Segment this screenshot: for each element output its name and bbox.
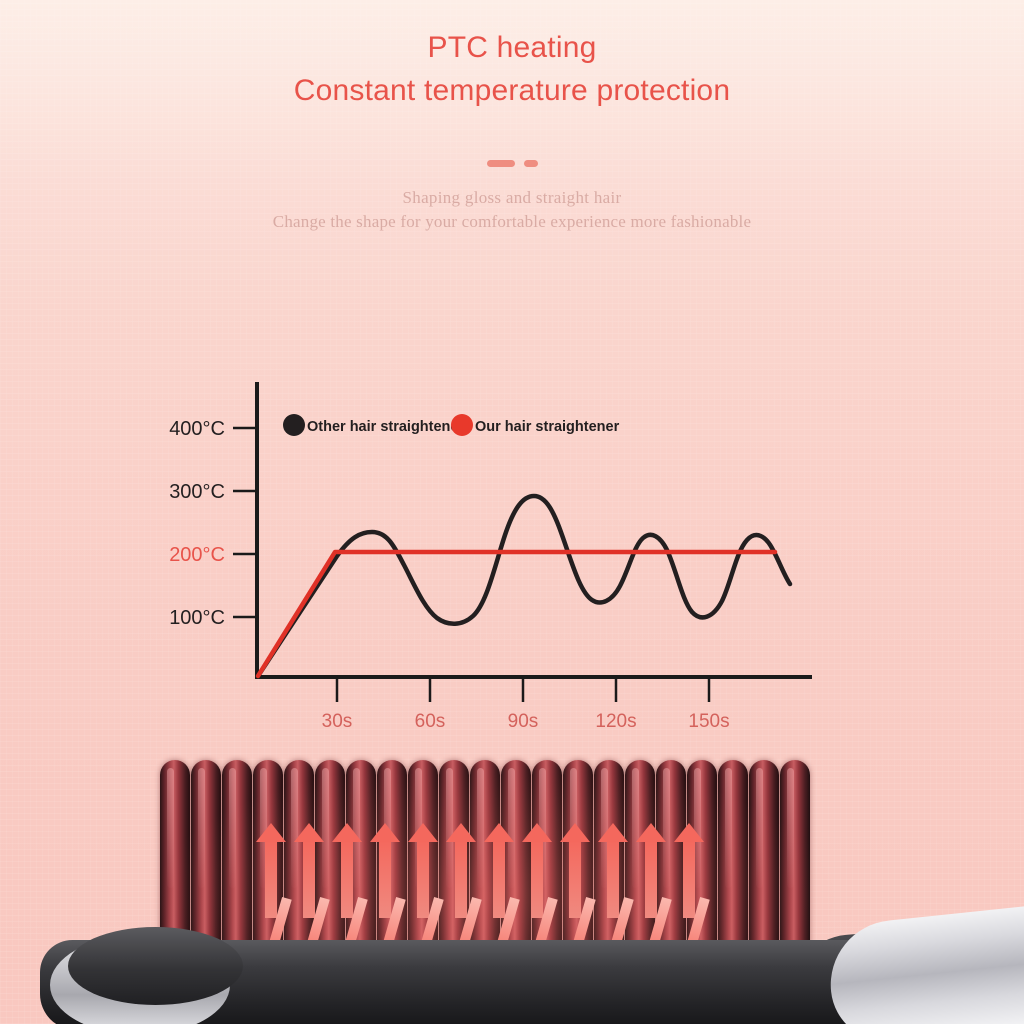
subtitle-line-2: Change the shape for your comfortable ex… xyxy=(0,210,1024,234)
heat-arrow-up-icon xyxy=(341,840,353,918)
heat-arrow-up-icon xyxy=(683,840,695,918)
page-title-line-1: PTC heating xyxy=(0,26,1024,70)
legend-label-other: Other hair straightener xyxy=(307,419,464,435)
divider-dash-short xyxy=(524,160,538,167)
y-tick-label-200: 200°C xyxy=(169,544,225,566)
heat-arrow-up-icon xyxy=(569,840,581,918)
legend-label-ours: Our hair straightener xyxy=(475,419,620,435)
legend-marker-ours xyxy=(451,414,473,436)
promo-page: PTC heating Constant temperature protect… xyxy=(0,0,1024,1024)
page-title-line-2: Constant temperature protection xyxy=(0,70,1024,112)
subtitle-line-1: Shaping gloss and straight hair xyxy=(0,186,1024,210)
x-tick-label-60s: 60s xyxy=(415,711,446,732)
chart-svg: Other hair straightener Our hair straigh… xyxy=(0,360,1024,760)
divider xyxy=(0,160,1024,167)
device-handle xyxy=(824,903,1024,1024)
heat-arrow-up-icon xyxy=(455,840,467,918)
temperature-chart: Other hair straightener Our hair straigh… xyxy=(0,360,1024,760)
x-tick-label-120s: 120s xyxy=(595,711,636,732)
heat-arrow-up-icon xyxy=(531,840,543,918)
heat-arrow-up-icon xyxy=(493,840,505,918)
subtitle-block: Shaping gloss and straight hair Change t… xyxy=(0,186,1024,234)
heat-arrow-up-icon xyxy=(645,840,657,918)
heat-arrow-up-icon xyxy=(265,840,277,918)
y-tick-label-400: 400°C xyxy=(169,418,225,440)
divider-dash-long xyxy=(487,160,515,167)
heat-arrow-up-icon xyxy=(417,840,429,918)
x-tick-label-30s: 30s xyxy=(322,711,353,732)
product-image xyxy=(0,755,1024,1024)
heat-arrow-up-icon xyxy=(303,840,315,918)
x-tick-label-90s: 90s xyxy=(508,711,539,732)
device-end-cap-inner xyxy=(68,927,243,1005)
page-header: PTC heating Constant temperature protect… xyxy=(0,26,1024,112)
heat-arrow-up-icon xyxy=(607,840,619,918)
chart-legend: Other hair straightener Our hair straigh… xyxy=(283,414,620,436)
y-tick-label-100: 100°C xyxy=(169,607,225,629)
series-line-other xyxy=(258,496,790,676)
heat-arrow-up-icon xyxy=(379,840,391,918)
y-tick-label-300: 300°C xyxy=(169,481,225,503)
x-tick-label-150s: 150s xyxy=(688,711,729,732)
legend-marker-other xyxy=(283,414,305,436)
